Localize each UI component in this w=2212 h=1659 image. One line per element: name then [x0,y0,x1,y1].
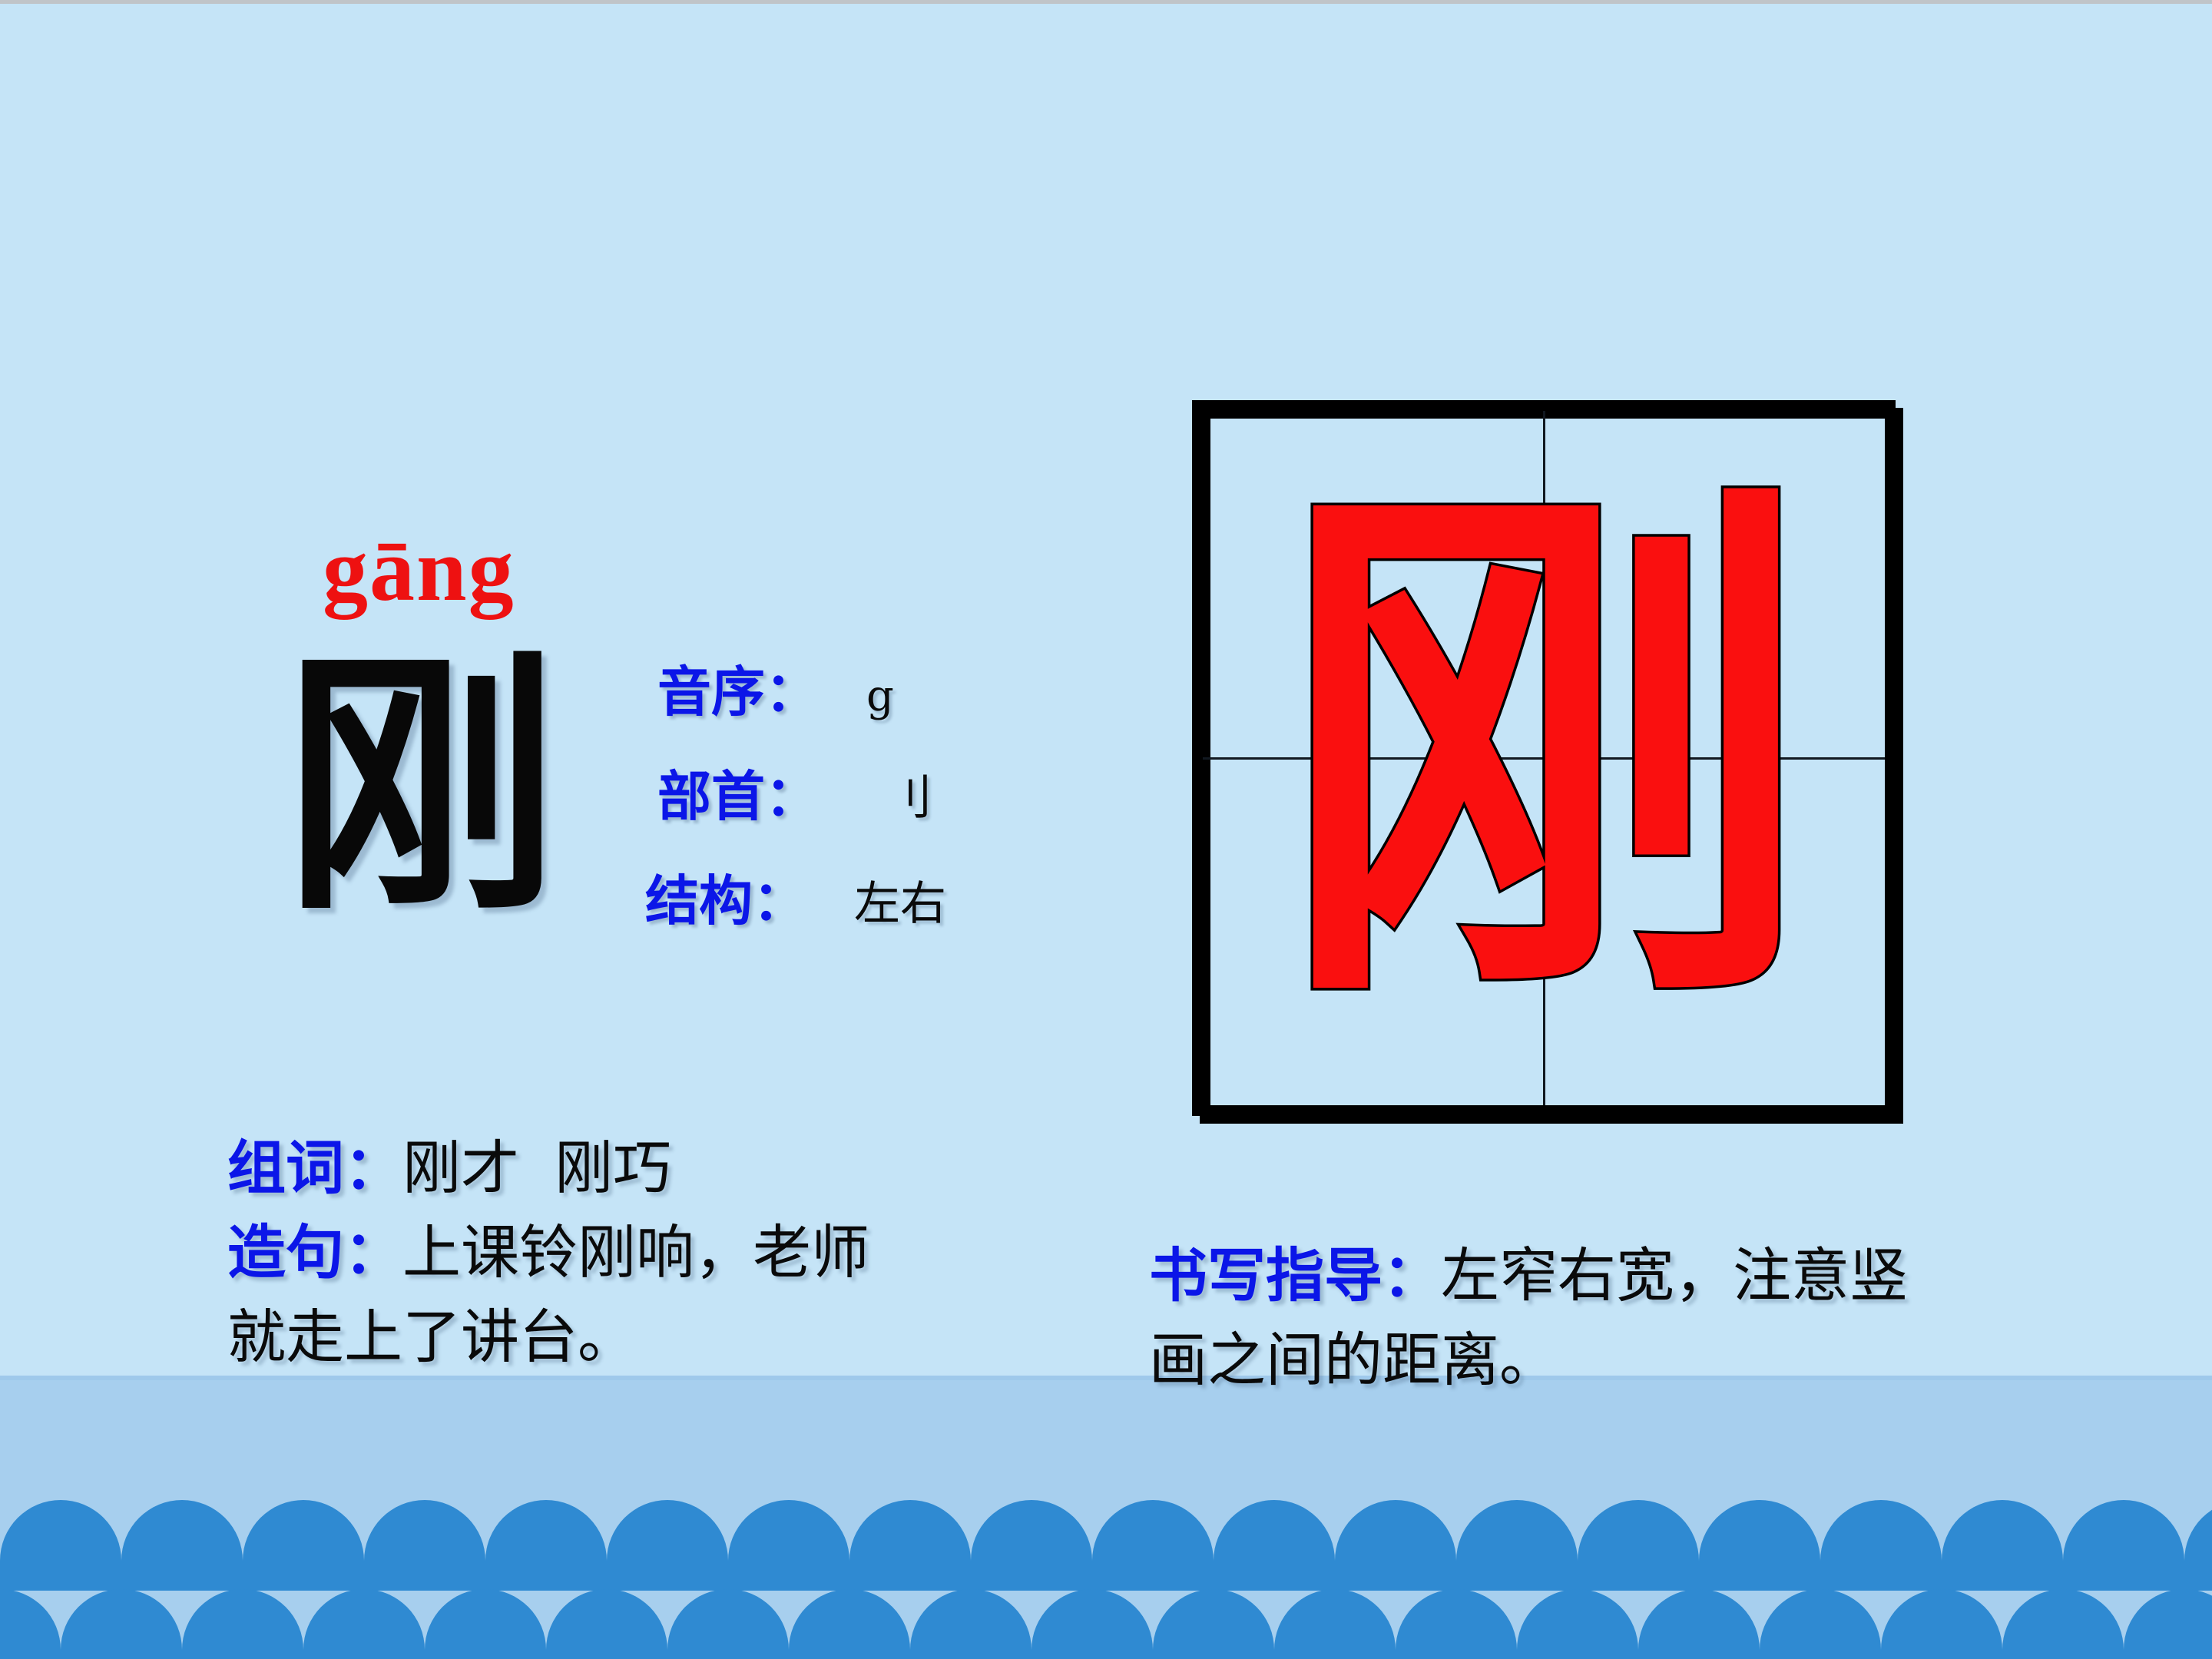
tianzige-grid: 刚 [1192,400,1896,1116]
info-row-phonetic-order: 音序： g [645,663,1121,767]
info-row-structure: 结构： 左右 [645,872,1121,976]
model-character-glyph: 刚 [1275,519,1813,982]
decoration-arch [667,1589,789,1659]
info-label-phonetic-order: 音序： [657,663,819,725]
guidance-text-first: 左窄右宽，注意竖 [1441,1241,1908,1310]
decoration-arch [1517,1589,1638,1659]
decoration-arch [1214,1500,1335,1591]
decoration-arch [607,1500,728,1591]
decoration-arch [1942,1500,2063,1591]
decoration-arch [1274,1589,1396,1659]
sentence-line-first: 造句：上课铃刚响，老师 [227,1211,1149,1296]
decoration-arch [2124,1589,2212,1659]
guidance-line-first: 书写指导：左窄右宽，注意竖 [1149,1234,2171,1319]
pinyin-text: gāng [323,525,515,615]
decoration-arch [728,1500,849,1591]
decoration-arch [1456,1500,1578,1591]
words-label: 组词： [227,1137,402,1201]
decoration-arch [849,1500,971,1591]
words-line: 组词：刚才刚巧 [227,1127,1149,1211]
tianzige-model-character: 刚 [1203,411,1885,1105]
sentence-line-second: 就走上了讲台。 [227,1296,1149,1379]
decoration-arch [1153,1589,1274,1659]
decoration-arch [1638,1589,1760,1659]
decoration-arch [485,1500,607,1591]
main-character-display: 刚 [283,647,559,924]
character-info-block: 音序： g 部首： 刂 结构： 左右 [645,663,1121,976]
decoration-arch [1760,1589,1881,1659]
decoration-arch-row-back [0,1500,2212,1591]
decoration-arch [1396,1589,1517,1659]
sentence-text-first: 上课铃刚响，老师 [402,1218,869,1286]
decoration-arch [1335,1500,1456,1591]
decoration-arch [1699,1500,1820,1591]
decoration-arch [182,1589,303,1659]
decoration-arch [1578,1500,1699,1591]
decoration-arch [1031,1589,1153,1659]
info-value-phonetic-order: g [866,672,894,721]
sentence-text-second: 就走上了讲台。 [227,1303,636,1371]
guidance-label: 书写指导： [1149,1244,1441,1309]
info-value-structure: 左右 [854,878,946,931]
info-row-radical: 部首： 刂 [645,767,1121,872]
info-value-radical: 刂 [885,770,932,825]
writing-guidance-block: 书写指导：左窄右宽，注意竖 画之间的距离。 [1149,1234,2171,1402]
decoration-arch [1820,1500,1942,1591]
decoration-arch [0,1500,121,1591]
decoration-arch [364,1500,485,1591]
decoration-arch [546,1589,667,1659]
decoration-arch [1092,1500,1214,1591]
decoration-arch [425,1589,546,1659]
character-card-slide: gāng 刚 音序： g 部首： 刂 结构： 左右 组词：刚才刚巧 造句：上课铃… [0,0,2212,1659]
guidance-text-second: 画之间的距离。 [1149,1326,1558,1394]
decoration-arch [910,1589,1031,1659]
decoration-arch [2002,1589,2124,1659]
guidance-line-second: 画之间的距离。 [1149,1319,2171,1402]
decoration-arch [2184,1500,2212,1591]
decoration-arch [121,1500,243,1591]
decoration-arch [61,1589,182,1659]
decoration-arch-row-front [0,1589,2212,1659]
decoration-arch [0,1589,61,1659]
words-value-first: 刚才 [402,1134,519,1202]
decoration-arch [2063,1500,2184,1591]
sentence-label: 造句： [227,1221,402,1286]
decoration-arch [243,1500,364,1591]
decoration-arch [789,1589,910,1659]
decoration-arch [1881,1589,2002,1659]
decoration-arch [971,1500,1092,1591]
decoration-arch [303,1589,425,1659]
notes-block: 组词：刚才刚巧 造句：上课铃刚响，老师 就走上了讲台。 [227,1127,1149,1379]
info-label-structure: 结构： [645,872,806,934]
info-label-radical: 部首： [657,767,819,829]
words-value-second: 刚巧 [555,1134,671,1202]
